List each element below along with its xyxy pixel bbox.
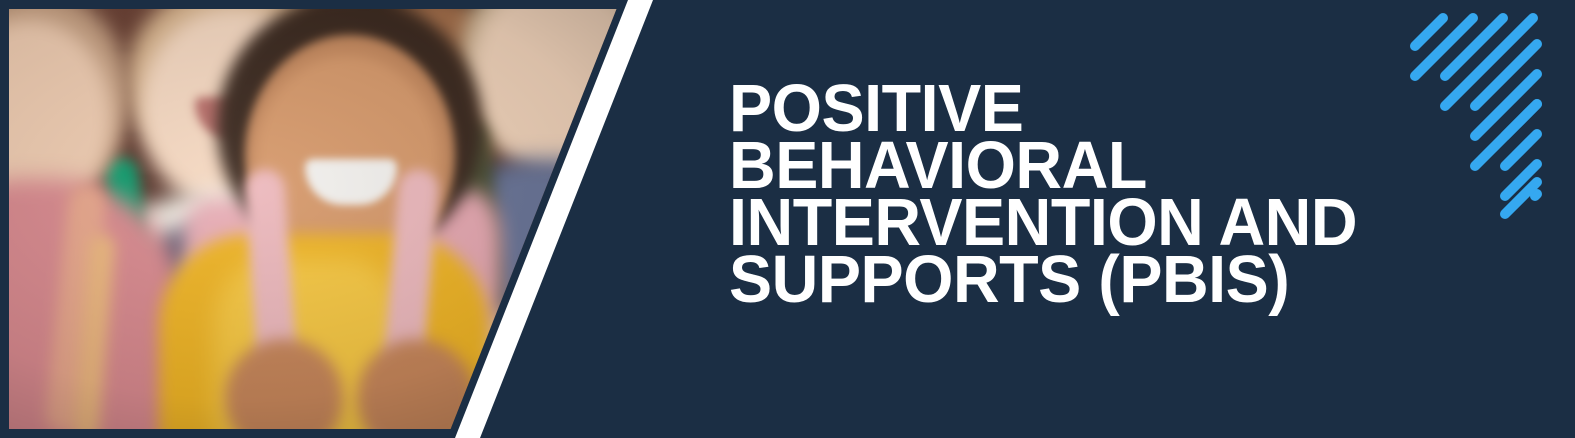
pbis-banner: POSITIVE BEHAVIORAL INTERVENTION AND SUP… bbox=[0, 0, 1575, 438]
page-title: POSITIVE BEHAVIORAL INTERVENTION AND SUP… bbox=[729, 80, 1429, 308]
diagonal-stripes-icon bbox=[1397, 0, 1557, 232]
corner-stripes-decoration bbox=[1397, 0, 1557, 232]
title-line-4: SUPPORTS (PBIS) bbox=[729, 251, 1405, 308]
